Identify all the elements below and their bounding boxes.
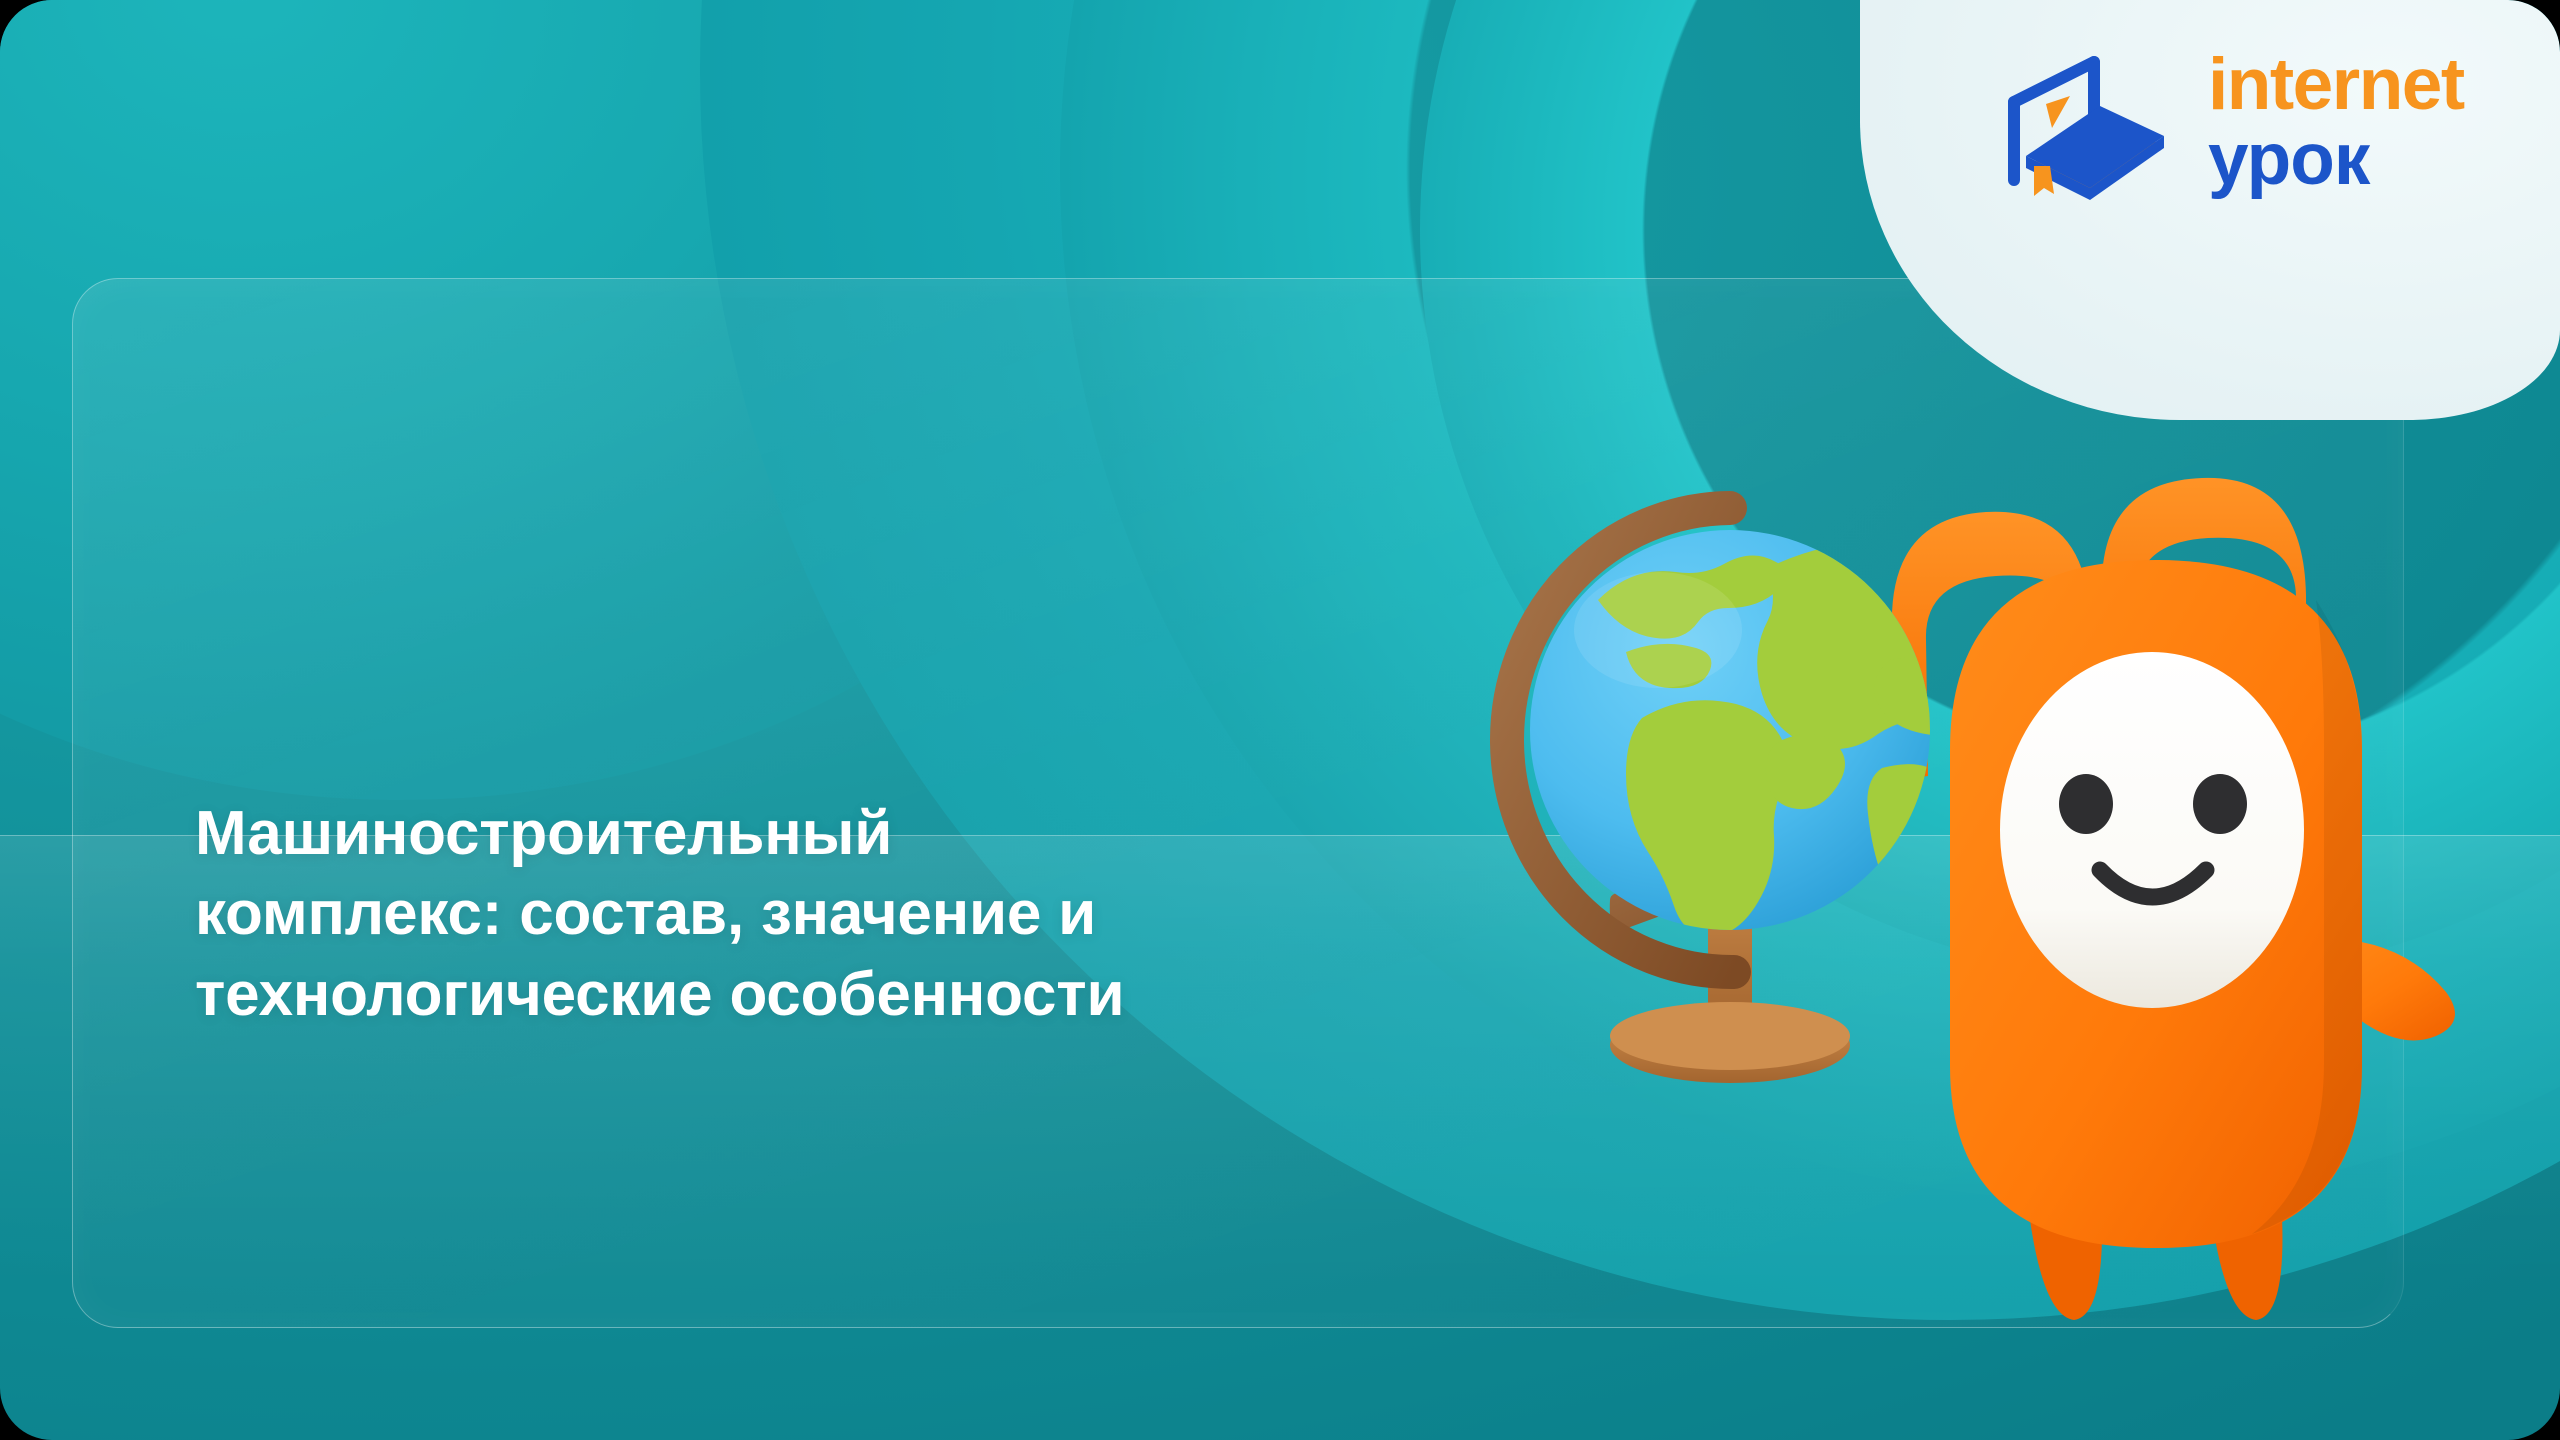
- brand-wordmark: internet урок: [2208, 51, 2464, 194]
- hero-illustration: [1430, 300, 2560, 1440]
- laptop-book-play-icon: [1978, 40, 2178, 205]
- mascot-eye-left: [2059, 774, 2113, 834]
- mascot-icon: [1950, 560, 2455, 1320]
- slide-root: Машиностроительный комплекс: состав, зна…: [0, 0, 2560, 1440]
- brand-word-internet: internet: [2208, 51, 2464, 120]
- mascot-eye-right: [2193, 774, 2247, 834]
- brand-word-urok: урок: [2208, 126, 2464, 195]
- page-title: Машиностроительный комплекс: состав, зна…: [195, 794, 1495, 1036]
